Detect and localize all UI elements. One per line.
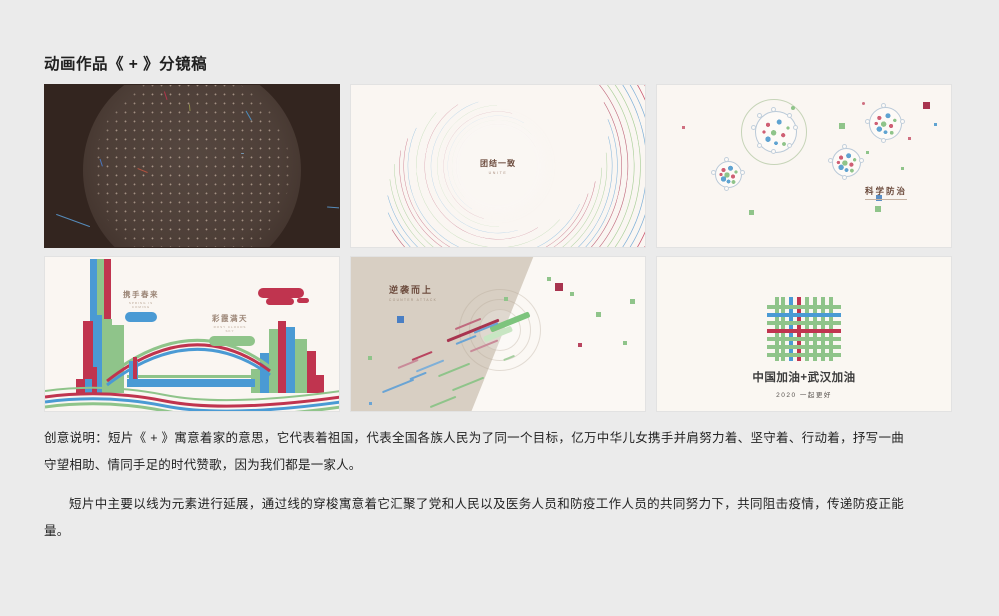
counter-attack-label: 逆袭而上 COUNTER ATTACK bbox=[389, 283, 437, 302]
slogan-main: 中国加油+武汉加油 bbox=[657, 369, 951, 385]
speck5-blue-square bbox=[397, 316, 404, 323]
description-paragraph-1: 创意说明：短片《 + 》寓意着家的意思，它代表着祖国，代表全国各族人民为了同一个… bbox=[44, 425, 904, 479]
speck5-green-7 bbox=[623, 341, 627, 345]
storyboard-panel-6[interactable]: 中国加油+武汉加油 2020 一起更好 bbox=[656, 256, 952, 412]
streak-blue-4 bbox=[327, 207, 340, 209]
speck-green-3 bbox=[866, 151, 869, 154]
storyboard-panel-4[interactable]: 携手春来 SPRING IS COMING 彩霞满天 ROSY CLOUDS S… bbox=[44, 256, 340, 412]
speck-green-6 bbox=[875, 206, 881, 212]
spring-caption-plate bbox=[125, 312, 157, 322]
speck-red-1 bbox=[682, 126, 685, 129]
rosy-clouds-caption-plate bbox=[209, 336, 255, 346]
rosy-clouds-caption: 彩霞满天 ROSY CLOUDS SKY bbox=[209, 313, 251, 346]
virus-large bbox=[755, 111, 797, 153]
speck-red-3 bbox=[923, 102, 930, 109]
speck-green-5 bbox=[749, 210, 754, 215]
plus-weave-logo bbox=[767, 297, 841, 361]
speck5-green-2 bbox=[547, 277, 551, 281]
description-paragraph-2: 短片中主要以线为元素进行延展，通过线的穿梭寓意着它汇聚了党和人民以及医务人员和防… bbox=[44, 491, 904, 545]
science-prevention-label: 科学防治 bbox=[865, 185, 907, 200]
speck-green-4 bbox=[901, 167, 904, 170]
speck5-green-5 bbox=[596, 312, 601, 317]
storyboard-panel-1[interactable] bbox=[44, 84, 340, 248]
unite-label-cn: 团结一致 bbox=[480, 158, 516, 169]
science-prevention-text: 科学防治 bbox=[865, 185, 907, 197]
spring-caption-en: SPRING IS COMING bbox=[122, 301, 160, 309]
globe-dot-matrix bbox=[94, 84, 290, 248]
speck-red-4 bbox=[908, 137, 911, 140]
storyboard-grid: 团结一致 UNITE bbox=[44, 84, 956, 412]
bridge-deck-rail bbox=[127, 375, 255, 378]
rosy-clouds-caption-en: ROSY CLOUDS SKY bbox=[209, 325, 251, 333]
speck-red-2 bbox=[862, 102, 865, 105]
speck5-red-2 bbox=[578, 343, 582, 347]
slogan-sub: 2020 一起更好 bbox=[657, 389, 951, 399]
storyboard-panel-5[interactable]: 逆袭而上 COUNTER ATTACK bbox=[350, 256, 646, 412]
storyboard-panel-3[interactable]: 科学防治 bbox=[656, 84, 952, 248]
virus-small-mid bbox=[832, 148, 861, 177]
spring-caption: 携手春来 SPRING IS COMING bbox=[122, 289, 160, 322]
spring-caption-cn: 携手春来 bbox=[122, 289, 160, 300]
unite-badge: 团结一致 UNITE bbox=[459, 127, 537, 205]
label-underline bbox=[865, 199, 907, 200]
streak-blue-3 bbox=[56, 214, 90, 228]
virus-small-left bbox=[715, 161, 742, 188]
bridge-tower-small-2 bbox=[133, 357, 137, 379]
rosy-clouds-caption-cn: 彩霞满天 bbox=[209, 313, 251, 324]
bridge-deck bbox=[127, 379, 255, 387]
speck5-green-6 bbox=[504, 297, 508, 301]
page-title: 动画作品《 + 》分镜稿 bbox=[44, 52, 207, 74]
speck5-green-3 bbox=[570, 292, 574, 296]
storyboard-page: 动画作品《 + 》分镜稿 bbox=[0, 0, 999, 616]
counter-attack-cn: 逆袭而上 bbox=[389, 283, 437, 296]
speck5-green-4 bbox=[630, 299, 635, 304]
speck5-red-1 bbox=[555, 283, 563, 291]
speck5-green-1 bbox=[368, 356, 372, 360]
unite-label-en: UNITE bbox=[489, 171, 508, 175]
speck-green-2 bbox=[839, 123, 845, 129]
speck-green-1 bbox=[791, 106, 795, 110]
creative-description: 创意说明：短片《 + 》寓意着家的意思，它代表着祖国，代表全国各族人民为了同一个… bbox=[44, 425, 904, 557]
virus-small-right bbox=[869, 107, 902, 140]
bridge-arcs bbox=[45, 257, 340, 412]
storyboard-panel-2[interactable]: 团结一致 UNITE bbox=[350, 84, 646, 248]
speck5-blue-2 bbox=[369, 402, 372, 405]
counter-attack-en: COUNTER ATTACK bbox=[389, 298, 437, 302]
speck-blue-1 bbox=[934, 123, 937, 126]
